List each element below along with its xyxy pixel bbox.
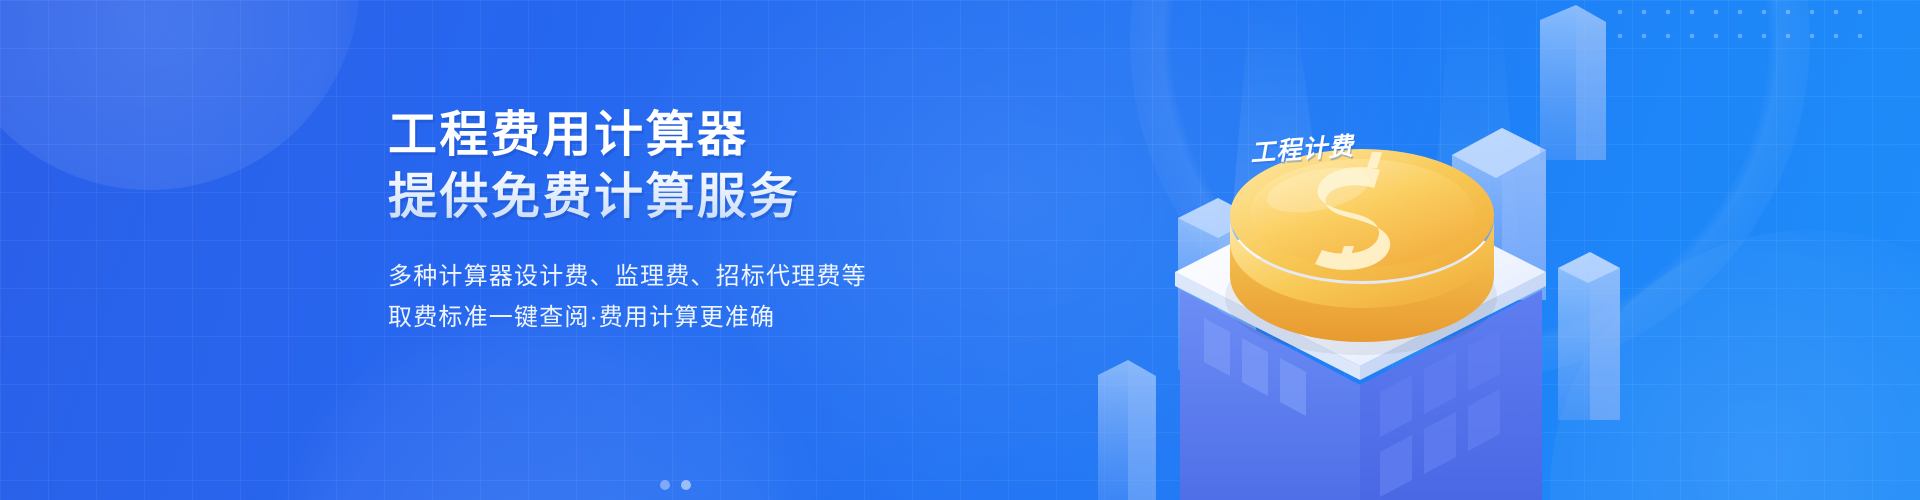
banner-subtitle: 多种计算器设计费、监理费、招标代理费等 取费标准一键查阅·费用计算更准确 (388, 256, 1008, 338)
promo-banner: 工程费用计算器 提供免费计算服务 多种计算器设计费、监理费、招标代理费等 取费标… (0, 0, 1920, 500)
hero-illustration: 工程计费 (1080, 0, 1640, 500)
banner-copy: 工程费用计算器 提供免费计算服务 多种计算器设计费、监理费、招标代理费等 取费标… (388, 104, 1008, 338)
page-title: 工程费用计算器 提供免费计算服务 (388, 104, 1008, 228)
carousel-dot-1[interactable] (660, 480, 670, 490)
subtitle-line-1: 多种计算器设计费、监理费、招标代理费等 (388, 256, 1008, 297)
gold-coin (1225, 149, 1497, 355)
decor-glow-top-left (0, 0, 360, 190)
dot-matrix-icon (1608, 0, 1868, 44)
subtitle-line-2: 取费标准一键查阅·费用计算更准确 (388, 297, 1008, 338)
carousel-dot-2[interactable] (681, 480, 691, 490)
headline-line-1: 工程费用计算器 (388, 108, 749, 162)
headline-line-2: 提供免费计算服务 (388, 166, 1008, 228)
illustration-label: 工程计费 (1249, 126, 1355, 169)
carousel-indicator[interactable] (660, 480, 691, 490)
